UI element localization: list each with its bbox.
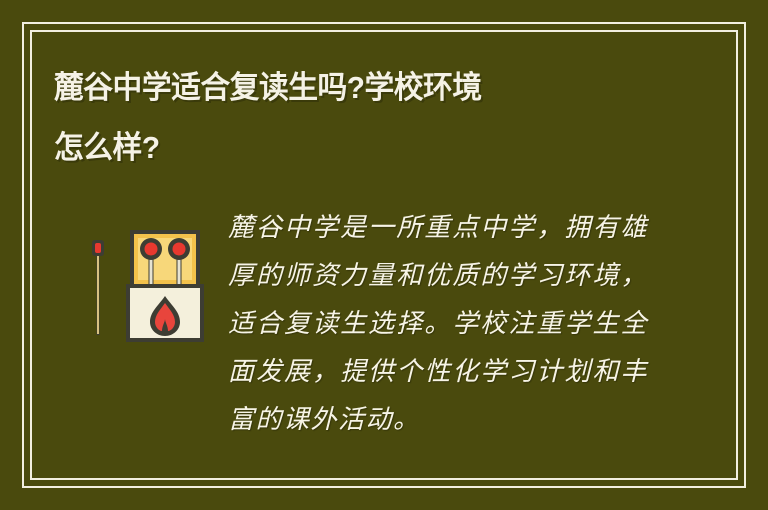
title-line-1: 麓谷中学适合复读生吗?学校环境 — [54, 58, 668, 118]
matchbox-tray-icon — [130, 230, 200, 288]
poster-canvas: 麓谷中学适合复读生吗?学校环境 怎么样? — [0, 0, 768, 510]
matchbox-sleeve-icon — [126, 284, 204, 342]
page-title: 麓谷中学适合复读生吗?学校环境 怎么样? — [54, 58, 694, 178]
title-line-2: 怎么样? — [54, 118, 668, 178]
single-match-icon — [92, 240, 104, 335]
content-row: 麓谷中学是一所重点中学，拥有雄厚的师资力量和优质的学习环境，适合复读生选择。学校… — [54, 196, 714, 456]
body-paragraph: 麓谷中学是一所重点中学，拥有雄厚的师资力量和优质的学习环境，适合复读生选择。学校… — [228, 204, 648, 444]
matchbox-illustration — [76, 218, 216, 348]
